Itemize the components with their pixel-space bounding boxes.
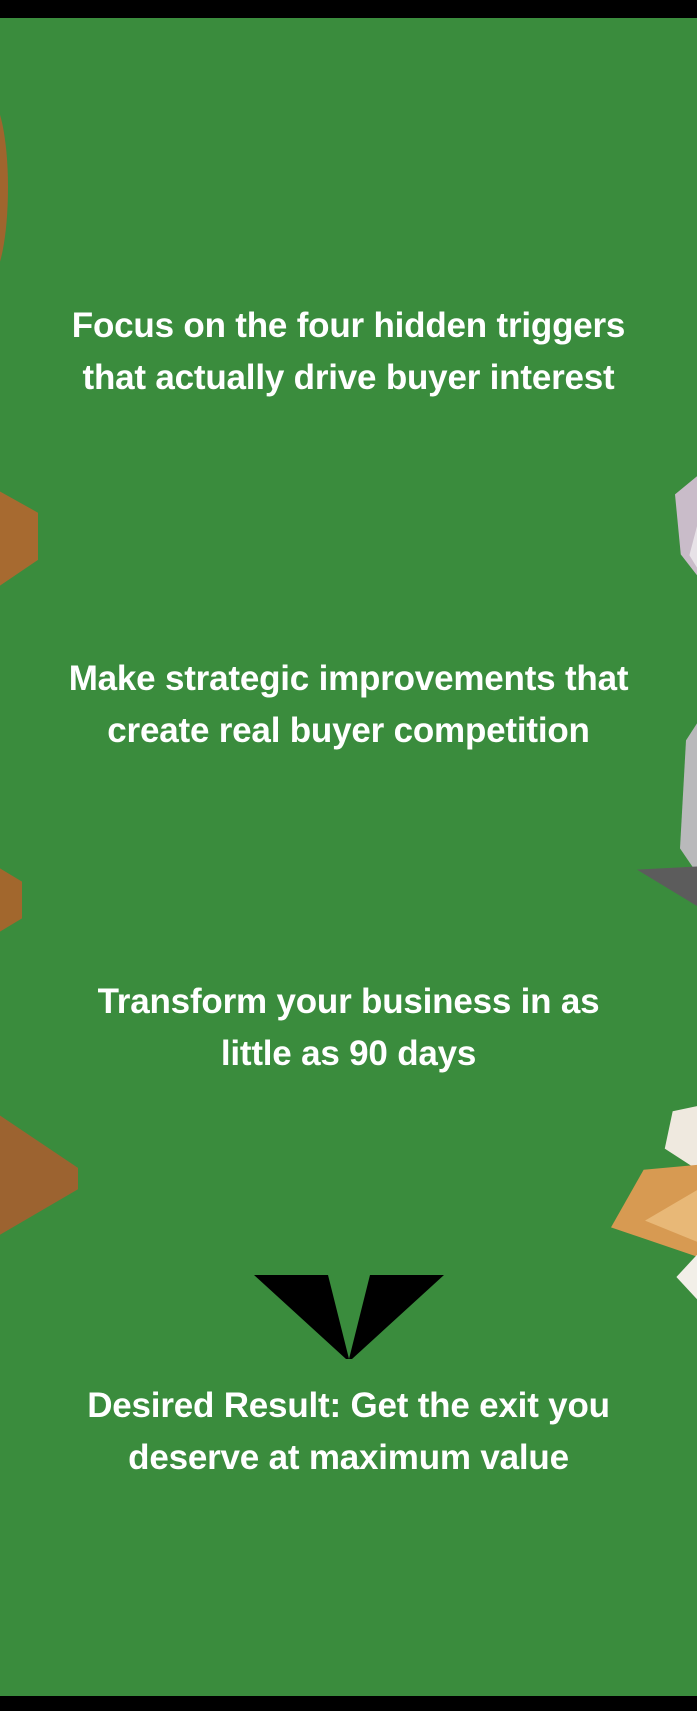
left-edge-fragment-3 <box>0 854 22 946</box>
slide-root: Focus on the four hidden triggers that a… <box>0 0 697 1711</box>
chevron-down-icon <box>254 1273 444 1365</box>
step-text-3: Transform your business in as little as … <box>69 976 629 1080</box>
right-edge-fragment-5 <box>663 1104 697 1176</box>
step-text-4: Desired Result: Get the exit you deserve… <box>69 1380 629 1484</box>
right-edge-fragment-4 <box>637 866 697 912</box>
letterbox-bar-top <box>0 0 697 18</box>
right-edge-fragment-3 <box>677 708 697 888</box>
left-edge-fragment-4 <box>0 1098 78 1250</box>
left-edge-fragment-1 <box>0 96 8 278</box>
left-edge-fragment-2 <box>0 478 38 602</box>
step-text-1: Focus on the four hidden triggers that a… <box>69 300 629 404</box>
green-content-canvas: Focus on the four hidden triggers that a… <box>0 18 697 1696</box>
right-edge-fragment-1 <box>675 468 697 588</box>
letterbox-bar-bottom <box>0 1696 697 1711</box>
step-text-2: Make strategic improvements that create … <box>69 653 629 757</box>
